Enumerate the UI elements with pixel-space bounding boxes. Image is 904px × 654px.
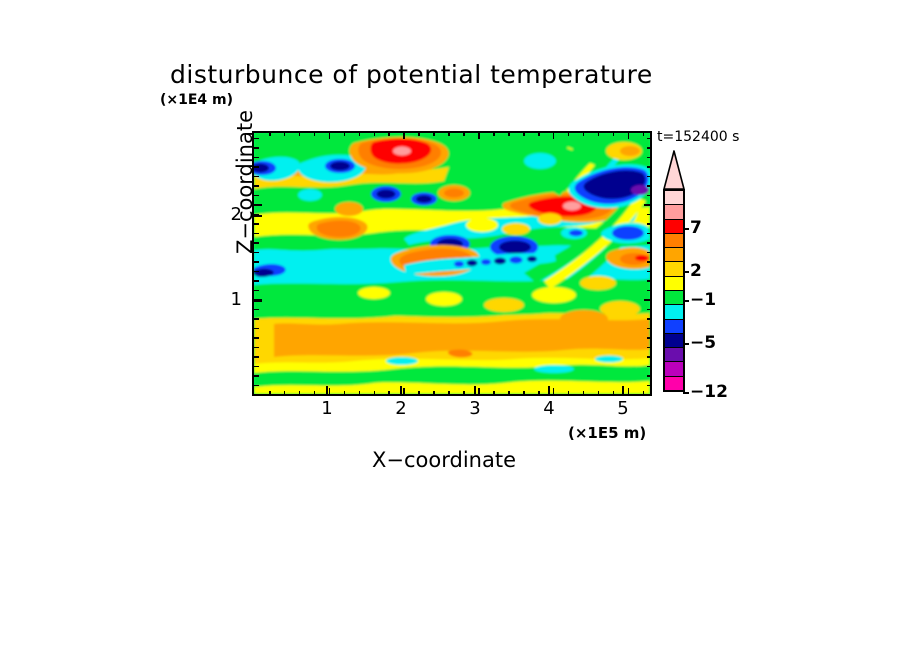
axis-minor-tick: [647, 242, 652, 244]
axis-minor-tick: [647, 261, 652, 263]
colorbar-label-minus5: −5: [690, 333, 716, 353]
axis-minor-tick: [568, 391, 570, 396]
axis-minor-tick: [583, 391, 585, 396]
axis-minor-tick: [254, 337, 259, 339]
axis-minor-tick: [647, 138, 652, 140]
axis-minor-tick: [254, 214, 259, 216]
colorbar-tick: [683, 271, 689, 273]
axis-minor-tick: [613, 391, 615, 396]
axis-minor-tick: [568, 131, 570, 136]
x-axis-tick: [548, 386, 550, 394]
axis-minor-tick: [388, 391, 390, 396]
axis-minor-tick: [644, 204, 652, 206]
axis-minor-tick: [254, 138, 259, 140]
colorbar: [663, 189, 685, 392]
page-title: disturbunce of potential temperature: [170, 60, 770, 89]
colorbar-segment: [665, 320, 683, 334]
axis-minor-tick: [329, 131, 331, 139]
axis-minor-tick: [647, 356, 652, 358]
axis-minor-tick: [647, 252, 652, 254]
title-unit-label: (×1E4 m): [160, 92, 233, 108]
axis-minor-tick: [553, 131, 555, 139]
axis-minor-tick: [508, 131, 510, 136]
x-tick-label-4: 4: [534, 398, 564, 419]
axis-minor-tick: [254, 185, 259, 187]
axis-minor-tick: [254, 147, 259, 149]
axis-minor-tick: [647, 157, 652, 159]
contour-plot-area: [252, 131, 652, 396]
axis-minor-tick: [647, 309, 652, 311]
colorbar-segment: [665, 334, 683, 348]
colorbar-segment: [665, 277, 683, 291]
colorbar-label-2: 2: [690, 261, 702, 281]
axis-minor-tick: [478, 388, 480, 396]
axis-minor-tick: [598, 391, 600, 396]
axis-minor-tick: [644, 299, 652, 301]
x-axis-tick: [474, 386, 476, 394]
colorbar-segment: [665, 291, 683, 305]
colorbar-segment: [665, 362, 683, 376]
axis-minor-tick: [314, 131, 316, 136]
time-annotation: t=152400 s: [657, 129, 739, 145]
axis-minor-tick: [254, 261, 259, 263]
axis-minor-tick: [254, 328, 259, 330]
axis-minor-tick: [254, 223, 259, 225]
axis-minor-tick: [254, 347, 259, 349]
colorbar-tick: [683, 228, 689, 230]
axis-minor-tick: [647, 290, 652, 292]
x-axis-tick: [326, 386, 328, 394]
axis-minor-tick: [254, 157, 259, 159]
colorbar-segment: [665, 305, 683, 319]
axis-minor-tick: [463, 391, 465, 396]
axis-minor-tick: [647, 385, 652, 387]
axis-minor-tick: [254, 318, 259, 320]
axis-minor-tick: [418, 131, 420, 136]
axis-minor-tick: [254, 356, 259, 358]
axis-minor-tick: [374, 391, 376, 396]
x-tick-label-2: 2: [386, 398, 416, 419]
axis-minor-tick: [583, 131, 585, 136]
axis-minor-tick: [643, 391, 645, 396]
axis-minor-tick: [344, 131, 346, 136]
x-axis-title: X−coordinate: [372, 448, 516, 472]
axis-minor-tick: [647, 271, 652, 273]
colorbar-segment: [665, 348, 683, 362]
axis-minor-tick: [359, 391, 361, 396]
axis-minor-tick: [344, 391, 346, 396]
axis-minor-tick: [523, 391, 525, 396]
axis-minor-tick: [647, 195, 652, 197]
axis-minor-tick: [359, 131, 361, 136]
axis-minor-tick: [254, 280, 259, 282]
y-axis-title: Z−coordinate: [233, 92, 257, 272]
axis-minor-tick: [403, 388, 405, 396]
axis-minor-tick: [448, 391, 450, 396]
axis-minor-tick: [538, 131, 540, 136]
axis-minor-tick: [269, 131, 271, 136]
colorbar-arrow-extend: [663, 150, 685, 190]
x-tick-label-5: 5: [608, 398, 638, 419]
axis-minor-tick: [254, 385, 259, 387]
axis-minor-tick: [628, 388, 630, 396]
axis-minor-tick: [433, 131, 435, 136]
colorbar-tick: [683, 300, 689, 302]
axis-minor-tick: [647, 318, 652, 320]
axis-minor-tick: [254, 204, 262, 206]
axis-minor-tick: [254, 309, 259, 311]
axis-minor-tick: [269, 391, 271, 396]
colorbar-segment: [665, 248, 683, 262]
colorbar-segment: [665, 220, 683, 234]
x-axis-unit-label: (×1E5 m): [568, 424, 646, 442]
axis-minor-tick: [647, 280, 652, 282]
axis-minor-tick: [628, 131, 630, 139]
axis-minor-tick: [647, 337, 652, 339]
axis-minor-tick: [647, 176, 652, 178]
axis-minor-tick: [647, 185, 652, 187]
axis-minor-tick: [254, 176, 259, 178]
axis-minor-tick: [299, 391, 301, 396]
x-tick-label-1: 1: [312, 398, 342, 419]
colorbar-segment: [665, 234, 683, 248]
colorbar-segment: [665, 191, 683, 205]
axis-minor-tick: [643, 131, 645, 136]
axis-minor-tick: [647, 223, 652, 225]
axis-minor-tick: [418, 391, 420, 396]
colorbar-tick: [683, 392, 689, 394]
axis-minor-tick: [254, 166, 259, 168]
axis-minor-tick: [538, 391, 540, 396]
colorbar-tick: [683, 343, 689, 345]
axis-minor-tick: [493, 131, 495, 136]
colorbar-label-minus12: −12: [690, 382, 728, 402]
colorbar-segment: [665, 262, 683, 276]
colorbar-segment: [665, 377, 683, 390]
axis-minor-tick: [254, 299, 262, 301]
colorbar-segment: [665, 205, 683, 219]
axis-minor-tick: [478, 131, 480, 139]
axis-minor-tick: [598, 131, 600, 136]
axis-minor-tick: [508, 391, 510, 396]
axis-minor-tick: [254, 195, 259, 197]
axis-minor-tick: [254, 242, 259, 244]
axis-minor-tick: [493, 391, 495, 396]
axis-minor-tick: [647, 166, 652, 168]
x-axis-tick: [622, 386, 624, 394]
axis-minor-tick: [647, 233, 652, 235]
colorbar-label-minus1: −1: [690, 290, 716, 310]
axis-minor-tick: [254, 271, 259, 273]
axis-minor-tick: [254, 252, 259, 254]
axis-minor-tick: [647, 375, 652, 377]
axis-minor-tick: [553, 388, 555, 396]
y-tick-label-1: 1: [212, 289, 242, 310]
axis-minor-tick: [254, 290, 259, 292]
axis-minor-tick: [647, 347, 652, 349]
axis-minor-tick: [403, 131, 405, 139]
axis-minor-tick: [254, 233, 259, 235]
x-axis-tick: [400, 386, 402, 394]
axis-minor-tick: [254, 366, 259, 368]
axis-minor-tick: [613, 131, 615, 136]
axis-minor-tick: [647, 214, 652, 216]
x-tick-label-3: 3: [460, 398, 490, 419]
colorbar-label-7: 7: [690, 218, 702, 238]
axis-minor-tick: [374, 131, 376, 136]
axis-minor-tick: [647, 328, 652, 330]
axis-minor-tick: [463, 131, 465, 136]
axis-minor-tick: [523, 131, 525, 136]
axis-minor-tick: [433, 391, 435, 396]
axis-minor-tick: [254, 375, 259, 377]
figure-canvas: disturbunce of potential temperature (×1…: [0, 0, 904, 654]
axis-minor-tick: [448, 131, 450, 136]
axis-minor-tick: [284, 391, 286, 396]
axis-minor-tick: [284, 131, 286, 136]
axis-minor-tick: [314, 391, 316, 396]
contour-field: [254, 133, 650, 394]
axis-minor-tick: [647, 147, 652, 149]
axis-minor-tick: [388, 131, 390, 136]
axis-minor-tick: [647, 366, 652, 368]
axis-minor-tick: [299, 131, 301, 136]
axis-minor-tick: [329, 388, 331, 396]
